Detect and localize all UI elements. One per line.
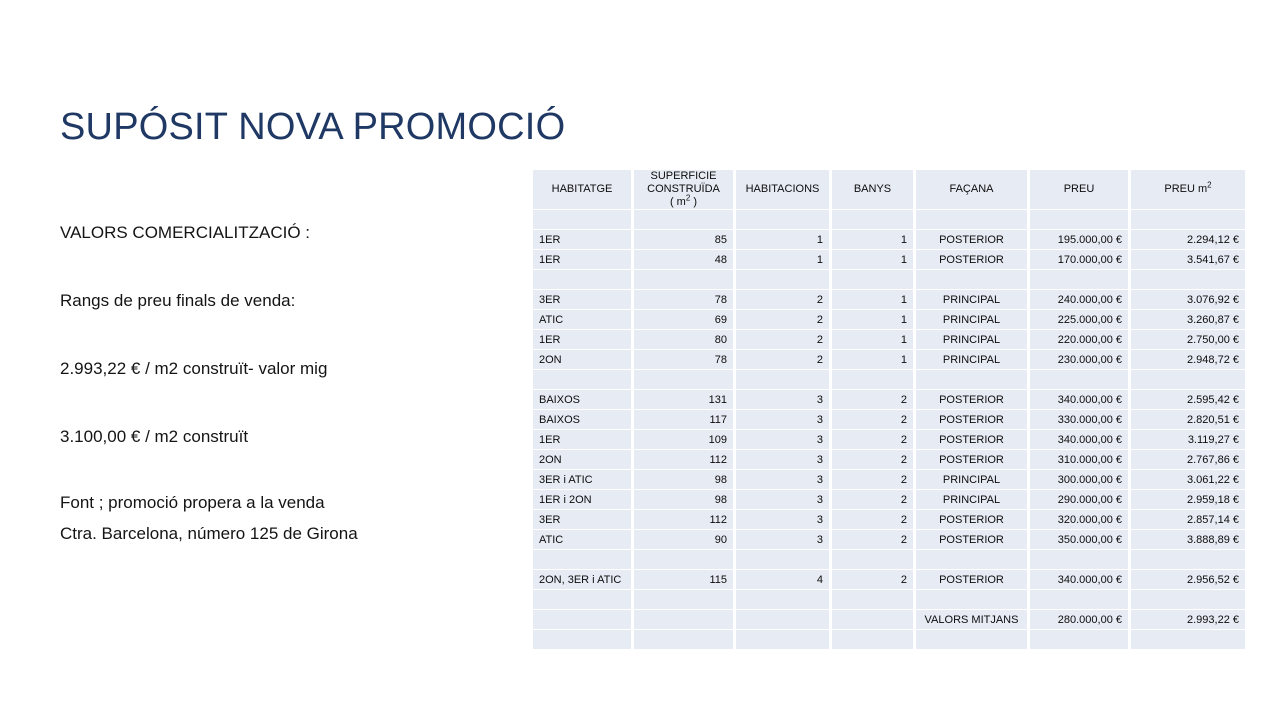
column-header-habitacions: HABITACIONS [736,170,832,210]
table-row: ATIC9032POSTERIOR350.000,00 €3.888,89 € [533,530,1245,550]
cell-habitacions: 3 [736,390,832,410]
cell-habitatge: 3ER [533,510,634,530]
cell-habitatge: BAIXOS [533,390,634,410]
spacer-cell [832,590,916,610]
cell-preu-m2: 3.888,89 € [1131,530,1245,550]
cell-preu-m2: 2.294,12 € [1131,230,1245,250]
spacer-cell [533,630,634,650]
cell-habitacions: 2 [736,310,832,330]
cell-banys [832,610,916,630]
column-header-preu-m2: PREU m2 [1131,170,1245,210]
cell-habitatge: 3ER [533,290,634,310]
cell-preu: 350.000,00 € [1030,530,1131,550]
cell-preu-m2: 2.767,86 € [1131,450,1245,470]
cell-superficie: 78 [634,290,736,310]
spacer [60,243,510,290]
spacer-cell [1131,210,1245,230]
cell-habitacions [736,610,832,630]
table-row: 3ER i ATIC9832PRINCIPAL300.000,00 €3.061… [533,470,1245,490]
cell-preu: 230.000,00 € [1030,350,1131,370]
cell-superficie: 112 [634,510,736,530]
table-row: ATIC6921PRINCIPAL225.000,00 €3.260,87 € [533,310,1245,330]
table-row: 1ER8511POSTERIOR195.000,00 €2.294,12 € [533,230,1245,250]
cell-habitatge: ATIC [533,530,634,550]
cell-banys: 2 [832,530,916,550]
table-row: 3ER7821PRINCIPAL240.000,00 €3.076,92 € [533,290,1245,310]
cell-habitacions: 1 [736,250,832,270]
header-line-2: CONSTRUÏDA [647,183,720,195]
cell-facana: POSTERIOR [916,230,1030,250]
spacer-cell [1131,630,1245,650]
cell-superficie: 109 [634,430,736,450]
cell-facana: POSTERIOR [916,250,1030,270]
spacer-cell [1030,270,1131,290]
spacer-cell [1030,370,1131,390]
cell-preu: 290.000,00 € [1030,490,1131,510]
cell-facana: PRINCIPAL [916,470,1030,490]
cell-preu: 340.000,00 € [1030,430,1131,450]
cell-superficie: 117 [634,410,736,430]
spacer-cell [634,550,736,570]
cell-facana: POSTERIOR [916,530,1030,550]
spacer-cell [634,210,736,230]
cell-banys: 2 [832,470,916,490]
cell-superficie: 80 [634,330,736,350]
spacer-cell [634,270,736,290]
table-row: 2ON11232POSTERIOR310.000,00 €2.767,86 € [533,450,1245,470]
cell-habitatge: 1ER [533,250,634,270]
spacer-cell [1131,370,1245,390]
cell-facana: VALORS MITJANS [916,610,1030,630]
cell-facana: PRINCIPAL [916,490,1030,510]
spacer-cell [736,550,832,570]
cell-habitacions: 3 [736,470,832,490]
column-header-facana: FAÇANA [916,170,1030,210]
cell-superficie: 78 [634,350,736,370]
cell-banys: 2 [832,390,916,410]
spacer-cell [1030,210,1131,230]
table-body: 1ER8511POSTERIOR195.000,00 €2.294,12 €1E… [533,210,1245,650]
header-superscript: 2 [1207,180,1211,189]
cell-preu: 280.000,00 € [1030,610,1131,630]
spacer-cell [736,270,832,290]
cell-banys: 2 [832,450,916,470]
cell-superficie: 85 [634,230,736,250]
cell-habitacions: 3 [736,410,832,430]
spacer-cell [533,270,634,290]
cell-preu: 195.000,00 € [1030,230,1131,250]
table-row: 2ON, 3ER i ATIC11542POSTERIOR340.000,00 … [533,570,1245,590]
table-spacer-row [533,550,1245,570]
cell-habitatge: 1ER [533,430,634,450]
cell-habitacions: 1 [736,230,832,250]
cell-facana: PRINCIPAL [916,310,1030,330]
cell-habitacions: 2 [736,290,832,310]
cell-banys: 2 [832,510,916,530]
spacer-cell [736,590,832,610]
spacer-cell [533,370,634,390]
cell-habitatge: 3ER i ATIC [533,470,634,490]
cell-superficie: 69 [634,310,736,330]
table-header-row: HABITATGE SUPERFICIE CONSTRUÏDA ( m2 ) H… [533,170,1245,210]
cell-habitacions: 2 [736,350,832,370]
table-total-row: VALORS MITJANS280.000,00 €2.993,22 € [533,610,1245,630]
cell-banys: 2 [832,430,916,450]
cell-habitatge: 2ON, 3ER i ATIC [533,570,634,590]
table-spacer-row [533,210,1245,230]
spacer-cell [533,210,634,230]
cell-preu: 220.000,00 € [1030,330,1131,350]
cell-preu-m2: 3.119,27 € [1131,430,1245,450]
cell-banys: 1 [832,290,916,310]
cell-facana: POSTERIOR [916,450,1030,470]
cell-habitatge: BAIXOS [533,410,634,430]
cell-habitatge: 2ON [533,450,634,470]
cell-preu: 240.000,00 € [1030,290,1131,310]
header-line-3-suffix: ) [690,196,697,208]
cell-habitatge: 2ON [533,350,634,370]
cell-preu: 320.000,00 € [1030,510,1131,530]
cell-habitacions: 3 [736,450,832,470]
spacer-cell [634,590,736,610]
table-row: 1ER10932POSTERIOR340.000,00 €3.119,27 € [533,430,1245,450]
cell-preu: 225.000,00 € [1030,310,1131,330]
price-table: HABITATGE SUPERFICIE CONSTRUÏDA ( m2 ) H… [533,170,1245,650]
table-row: 1ER4811POSTERIOR170.000,00 €3.541,67 € [533,250,1245,270]
cell-facana: POSTERIOR [916,570,1030,590]
cell-facana: POSTERIOR [916,510,1030,530]
spacer-cell [916,630,1030,650]
cell-habitatge: 1ER [533,230,634,250]
spacer-cell [1030,590,1131,610]
cell-preu-m2: 2.750,00 € [1131,330,1245,350]
cell-superficie: 48 [634,250,736,270]
cell-preu: 300.000,00 € [1030,470,1131,490]
cell-banys: 1 [832,310,916,330]
spacer-cell [1030,630,1131,650]
spacer-cell [832,630,916,650]
header-line-1: SUPERFICIE [650,170,716,182]
table-row: 1ER i 2ON9832PRINCIPAL290.000,00 €2.959,… [533,490,1245,510]
table-row: 3ER11232POSTERIOR320.000,00 €2.857,14 € [533,510,1245,530]
cell-habitatge: 1ER [533,330,634,350]
spacer [60,311,510,358]
table-spacer-row [533,370,1245,390]
table-row: BAIXOS13132POSTERIOR340.000,00 €2.595,42… [533,390,1245,410]
cell-habitacions: 3 [736,530,832,550]
table-row: 1ER8021PRINCIPAL220.000,00 €2.750,00 € [533,330,1245,350]
cell-preu-m2: 2.820,51 € [1131,410,1245,430]
table-header: HABITATGE SUPERFICIE CONSTRUÏDA ( m2 ) H… [533,170,1245,210]
spacer-cell [916,550,1030,570]
spacer-cell [832,550,916,570]
cell-preu-m2: 2.948,72 € [1131,350,1245,370]
spacer-cell [736,370,832,390]
spacer [60,447,510,492]
cell-habitacions: 3 [736,490,832,510]
spacer-cell [1131,590,1245,610]
spacer-cell [832,210,916,230]
cell-preu: 330.000,00 € [1030,410,1131,430]
cell-superficie: 115 [634,570,736,590]
text-line-adreca: Ctra. Barcelona, número 125 de Girona [60,523,510,544]
cell-banys: 2 [832,410,916,430]
cell-preu: 310.000,00 € [1030,450,1131,470]
table-row: BAIXOS11732POSTERIOR330.000,00 €2.820,51… [533,410,1245,430]
cell-superficie: 98 [634,470,736,490]
cell-facana: PRINCIPAL [916,330,1030,350]
text-line-valors-comercialitzacio: VALORS COMERCIALITZACIÓ : [60,222,510,243]
spacer-cell [916,270,1030,290]
cell-facana: POSTERIOR [916,430,1030,450]
spacer-cell [832,370,916,390]
cell-superficie [634,610,736,630]
table-row: 2ON7821PRINCIPAL230.000,00 €2.948,72 € [533,350,1245,370]
cell-facana: POSTERIOR [916,390,1030,410]
cell-banys: 2 [832,490,916,510]
cell-facana: POSTERIOR [916,410,1030,430]
cell-preu-m2: 2.993,22 € [1131,610,1245,630]
cell-superficie: 98 [634,490,736,510]
page-title: SUPÓSIT NOVA PROMOCIÓ [60,104,565,150]
cell-preu-m2: 3.541,67 € [1131,250,1245,270]
cell-habitacions: 3 [736,430,832,450]
spacer [60,379,510,426]
cell-facana: PRINCIPAL [916,350,1030,370]
cell-preu: 340.000,00 € [1030,570,1131,590]
spacer-cell [736,210,832,230]
header-preu-m2-prefix: PREU m [1164,183,1207,195]
cell-preu-m2: 2.956,52 € [1131,570,1245,590]
cell-banys: 1 [832,250,916,270]
cell-preu-m2: 2.857,14 € [1131,510,1245,530]
spacer [60,513,510,523]
cell-facana: PRINCIPAL [916,290,1030,310]
column-header-banys: BANYS [832,170,916,210]
spacer-cell [916,370,1030,390]
spacer-cell [1030,550,1131,570]
cell-habitacions: 4 [736,570,832,590]
spacer-cell [832,270,916,290]
column-header-superficie-construida: SUPERFICIE CONSTRUÏDA ( m2 ) [634,170,736,210]
text-line-valor-mig: 2.993,22 € / m2 construït- valor mig [60,358,510,379]
cell-preu-m2: 3.076,92 € [1131,290,1245,310]
spacer-cell [1131,270,1245,290]
spacer-cell [533,550,634,570]
text-line-rangs-preu: Rangs de preu finals de venda: [60,290,510,311]
cell-preu: 170.000,00 € [1030,250,1131,270]
cell-habitatge: 1ER i 2ON [533,490,634,510]
cell-banys: 1 [832,230,916,250]
cell-banys: 2 [832,570,916,590]
spacer-cell [634,370,736,390]
spacer-cell [533,590,634,610]
cell-habitacions: 2 [736,330,832,350]
text-line-preu-m2: 3.100,00 € / m2 construït [60,426,510,447]
column-header-preu: PREU [1030,170,1131,210]
cell-preu-m2: 2.959,18 € [1131,490,1245,510]
cell-superficie: 131 [634,390,736,410]
cell-preu-m2: 2.595,42 € [1131,390,1245,410]
cell-preu: 340.000,00 € [1030,390,1131,410]
cell-habitacions: 3 [736,510,832,530]
spacer-cell [634,630,736,650]
cell-preu-m2: 3.260,87 € [1131,310,1245,330]
cell-preu-m2: 3.061,22 € [1131,470,1245,490]
cell-superficie: 90 [634,530,736,550]
cell-superficie: 112 [634,450,736,470]
spacer-cell [916,210,1030,230]
spacer-cell [736,630,832,650]
cell-banys: 1 [832,350,916,370]
table-spacer-row [533,630,1245,650]
table-spacer-row [533,270,1245,290]
table-spacer-row [533,590,1245,610]
column-header-habitatge: HABITATGE [533,170,634,210]
cell-habitatge: ATIC [533,310,634,330]
cell-banys: 1 [832,330,916,350]
spacer-cell [1131,550,1245,570]
text-line-font: Font ; promoció propera a la venda [60,492,510,513]
body-text-block: VALORS COMERCIALITZACIÓ : Rangs de preu … [60,222,510,544]
cell-habitatge [533,610,634,630]
header-line-3-prefix: ( m [670,196,686,208]
spacer-cell [916,590,1030,610]
